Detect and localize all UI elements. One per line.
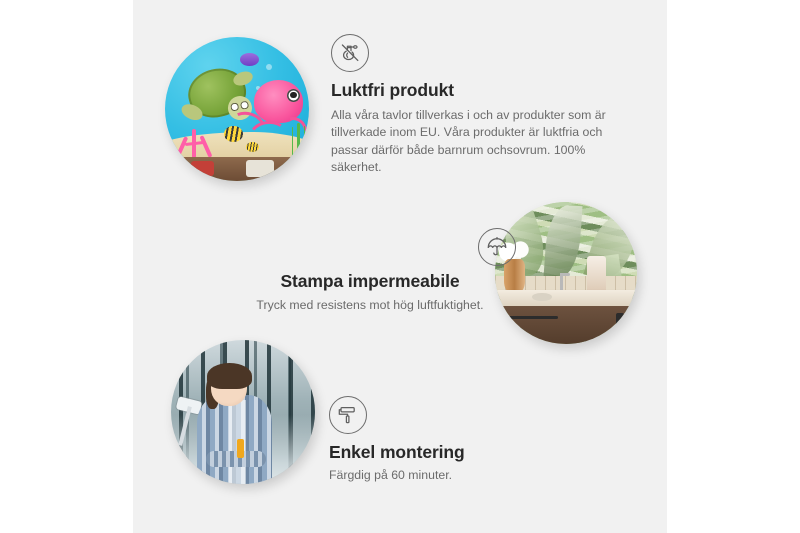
soap-bottle bbox=[587, 256, 605, 293]
seaweed bbox=[297, 123, 300, 160]
feature-title: Enkel montering bbox=[329, 442, 609, 463]
product-feature-infographic: Luktfri produkt Alla våra tavlor tillver… bbox=[0, 0, 800, 533]
purple-fish bbox=[240, 53, 259, 66]
painter-forest-mural-circle-image bbox=[171, 340, 315, 484]
content-panel: Luktfri produkt Alla våra tavlor tillver… bbox=[133, 0, 667, 533]
feature-title: Luktfri produkt bbox=[331, 80, 631, 101]
feature-description: Alla våra tavlor tillverkas i och av pro… bbox=[331, 107, 631, 177]
feature-block-odour-free: Luktfri produkt Alla våra tavlor tillver… bbox=[331, 34, 631, 177]
woman-crossed-arms bbox=[206, 451, 266, 467]
woman-hair bbox=[207, 363, 252, 389]
umbrella-icon bbox=[478, 228, 516, 266]
feature-description: Tryck med resistens mot hög luftfuktighe… bbox=[215, 297, 525, 314]
photo-bottom-strip bbox=[165, 157, 309, 181]
paint-roller-icon bbox=[329, 396, 367, 434]
feature-title: Stampa impermeabile bbox=[215, 271, 525, 292]
feature-block-waterproof-print: Stampa impermeabile Tryck med resistens … bbox=[215, 228, 525, 314]
underwater-cartoon-circle-image bbox=[165, 37, 309, 181]
faucet bbox=[560, 273, 563, 290]
icon-row bbox=[215, 228, 525, 266]
feature-block-easy-assembly: Enkel montering Färgdig på 60 minuter. bbox=[329, 396, 609, 484]
no-fragrance-icon bbox=[331, 34, 369, 72]
small-striped-fish bbox=[246, 142, 259, 152]
paint-brush bbox=[237, 439, 244, 458]
yellow-striped-fish bbox=[224, 126, 243, 142]
feature-description: Färgdig på 60 minuter. bbox=[329, 467, 609, 484]
